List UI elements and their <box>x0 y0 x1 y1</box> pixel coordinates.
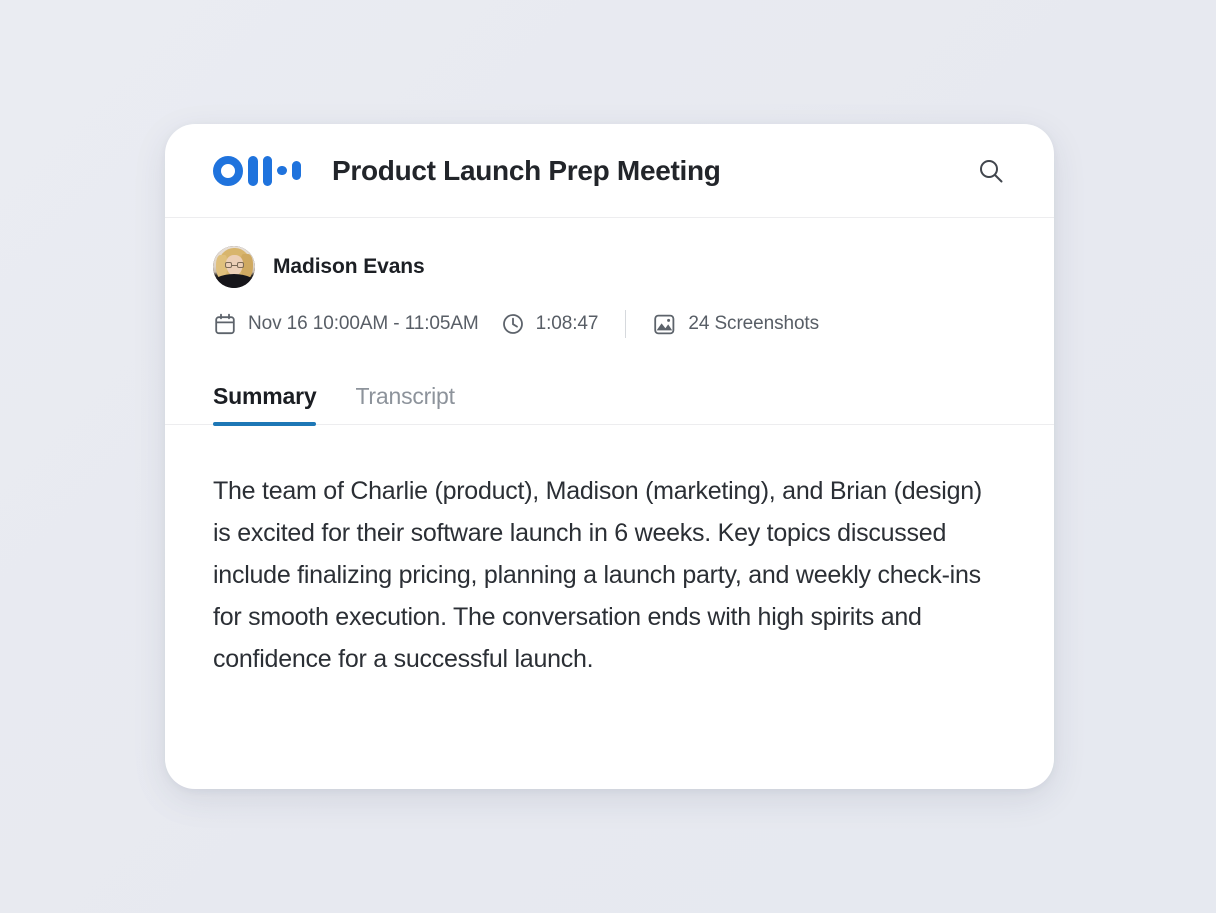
image-icon <box>652 312 677 337</box>
otter-logo-bar-1 <box>248 156 258 186</box>
meeting-card: Product Launch Prep Meeting <box>165 124 1054 789</box>
presenter-name: Madison Evans <box>273 255 425 279</box>
summary-text: The team of Charlie (product), Madison (… <box>213 470 988 680</box>
tab-bar: Summary Transcript <box>213 374 1006 425</box>
presenter-row: Madison Evans <box>213 246 1006 288</box>
avatar-photo <box>213 246 255 288</box>
meta-date-time-text: Nov 16 10:00AM - 11:05AM <box>248 313 479 335</box>
clock-icon <box>501 312 525 336</box>
meta-duration-text: 1:08:47 <box>536 313 599 335</box>
meta-duration: 1:08:47 <box>501 312 599 336</box>
search-button[interactable] <box>971 151 1011 191</box>
otter-logo-bar-2 <box>263 156 273 186</box>
tab-transcript[interactable]: Transcript <box>355 383 454 424</box>
card-body: Madison Evans Nov 16 10:00AM - 11:05AM <box>165 218 1054 680</box>
meta-divider <box>625 310 626 338</box>
otter-logo-icon[interactable] <box>213 156 301 186</box>
meta-screenshots-text: 24 Screenshots <box>688 313 819 335</box>
otter-logo-dot <box>277 166 287 176</box>
meta-screenshots: 24 Screenshots <box>652 312 819 337</box>
otter-logo-ring <box>213 156 243 186</box>
page-title: Product Launch Prep Meeting <box>332 155 721 187</box>
calendar-icon <box>213 312 237 336</box>
tab-summary[interactable]: Summary <box>213 383 316 424</box>
meta-date-time: Nov 16 10:00AM - 11:05AM <box>213 312 479 336</box>
avatar[interactable] <box>213 246 255 288</box>
search-icon <box>978 158 1004 184</box>
card-header: Product Launch Prep Meeting <box>165 124 1054 218</box>
screen-background: Product Launch Prep Meeting <box>0 0 1216 913</box>
meeting-metadata: Nov 16 10:00AM - 11:05AM 1:08:47 <box>213 310 1006 338</box>
otter-logo-bar-3 <box>292 161 302 180</box>
